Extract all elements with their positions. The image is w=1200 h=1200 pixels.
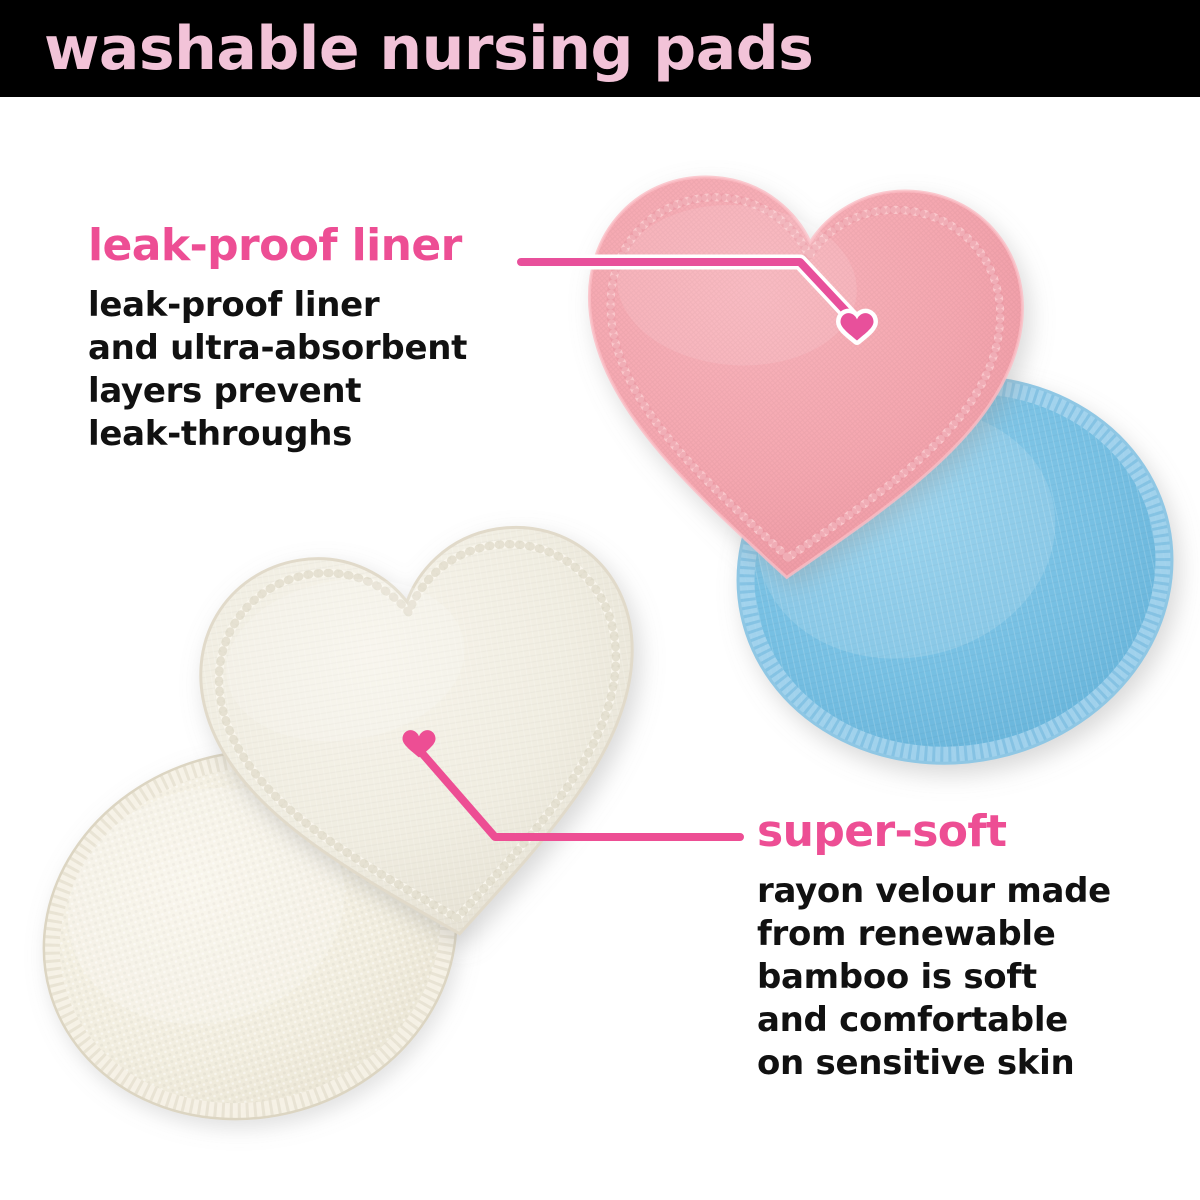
callout-body-line: and comfortable: [757, 999, 1111, 1042]
callout-body-line: from renewable: [757, 913, 1111, 956]
leader-super-soft: [403, 730, 741, 837]
callout-body-line: and ultra-absorbent: [88, 327, 467, 370]
callout-heading-leak-proof-liner: leak-proof liner: [88, 222, 467, 270]
heart-marker: [403, 730, 436, 757]
callout-body-line: on sensitive skin: [757, 1042, 1111, 1085]
callout-body-line: leak-throughs: [88, 413, 467, 456]
callout-body-leak-proof-liner: leak-proof liner and ultra-absorbent lay…: [88, 284, 467, 456]
callout-heading-super-soft: super-soft: [757, 808, 1111, 856]
callout-body-line: layers prevent: [88, 370, 467, 413]
callout-leak-proof-liner: leak-proof liner leak-proof liner and ul…: [88, 222, 467, 456]
callout-body-line: rayon velour made: [757, 870, 1111, 913]
infographic-page: washable nursing pads leak-proof liner l…: [0, 0, 1200, 1200]
callout-body-line: leak-proof liner: [88, 284, 467, 327]
callout-body-line: bamboo is soft: [757, 956, 1111, 999]
callout-body-super-soft: rayon velour made from renewable bamboo …: [757, 870, 1111, 1085]
callout-super-soft: super-soft rayon velour made from renewa…: [757, 808, 1111, 1085]
leader-leak-proof-liner: [521, 262, 874, 341]
